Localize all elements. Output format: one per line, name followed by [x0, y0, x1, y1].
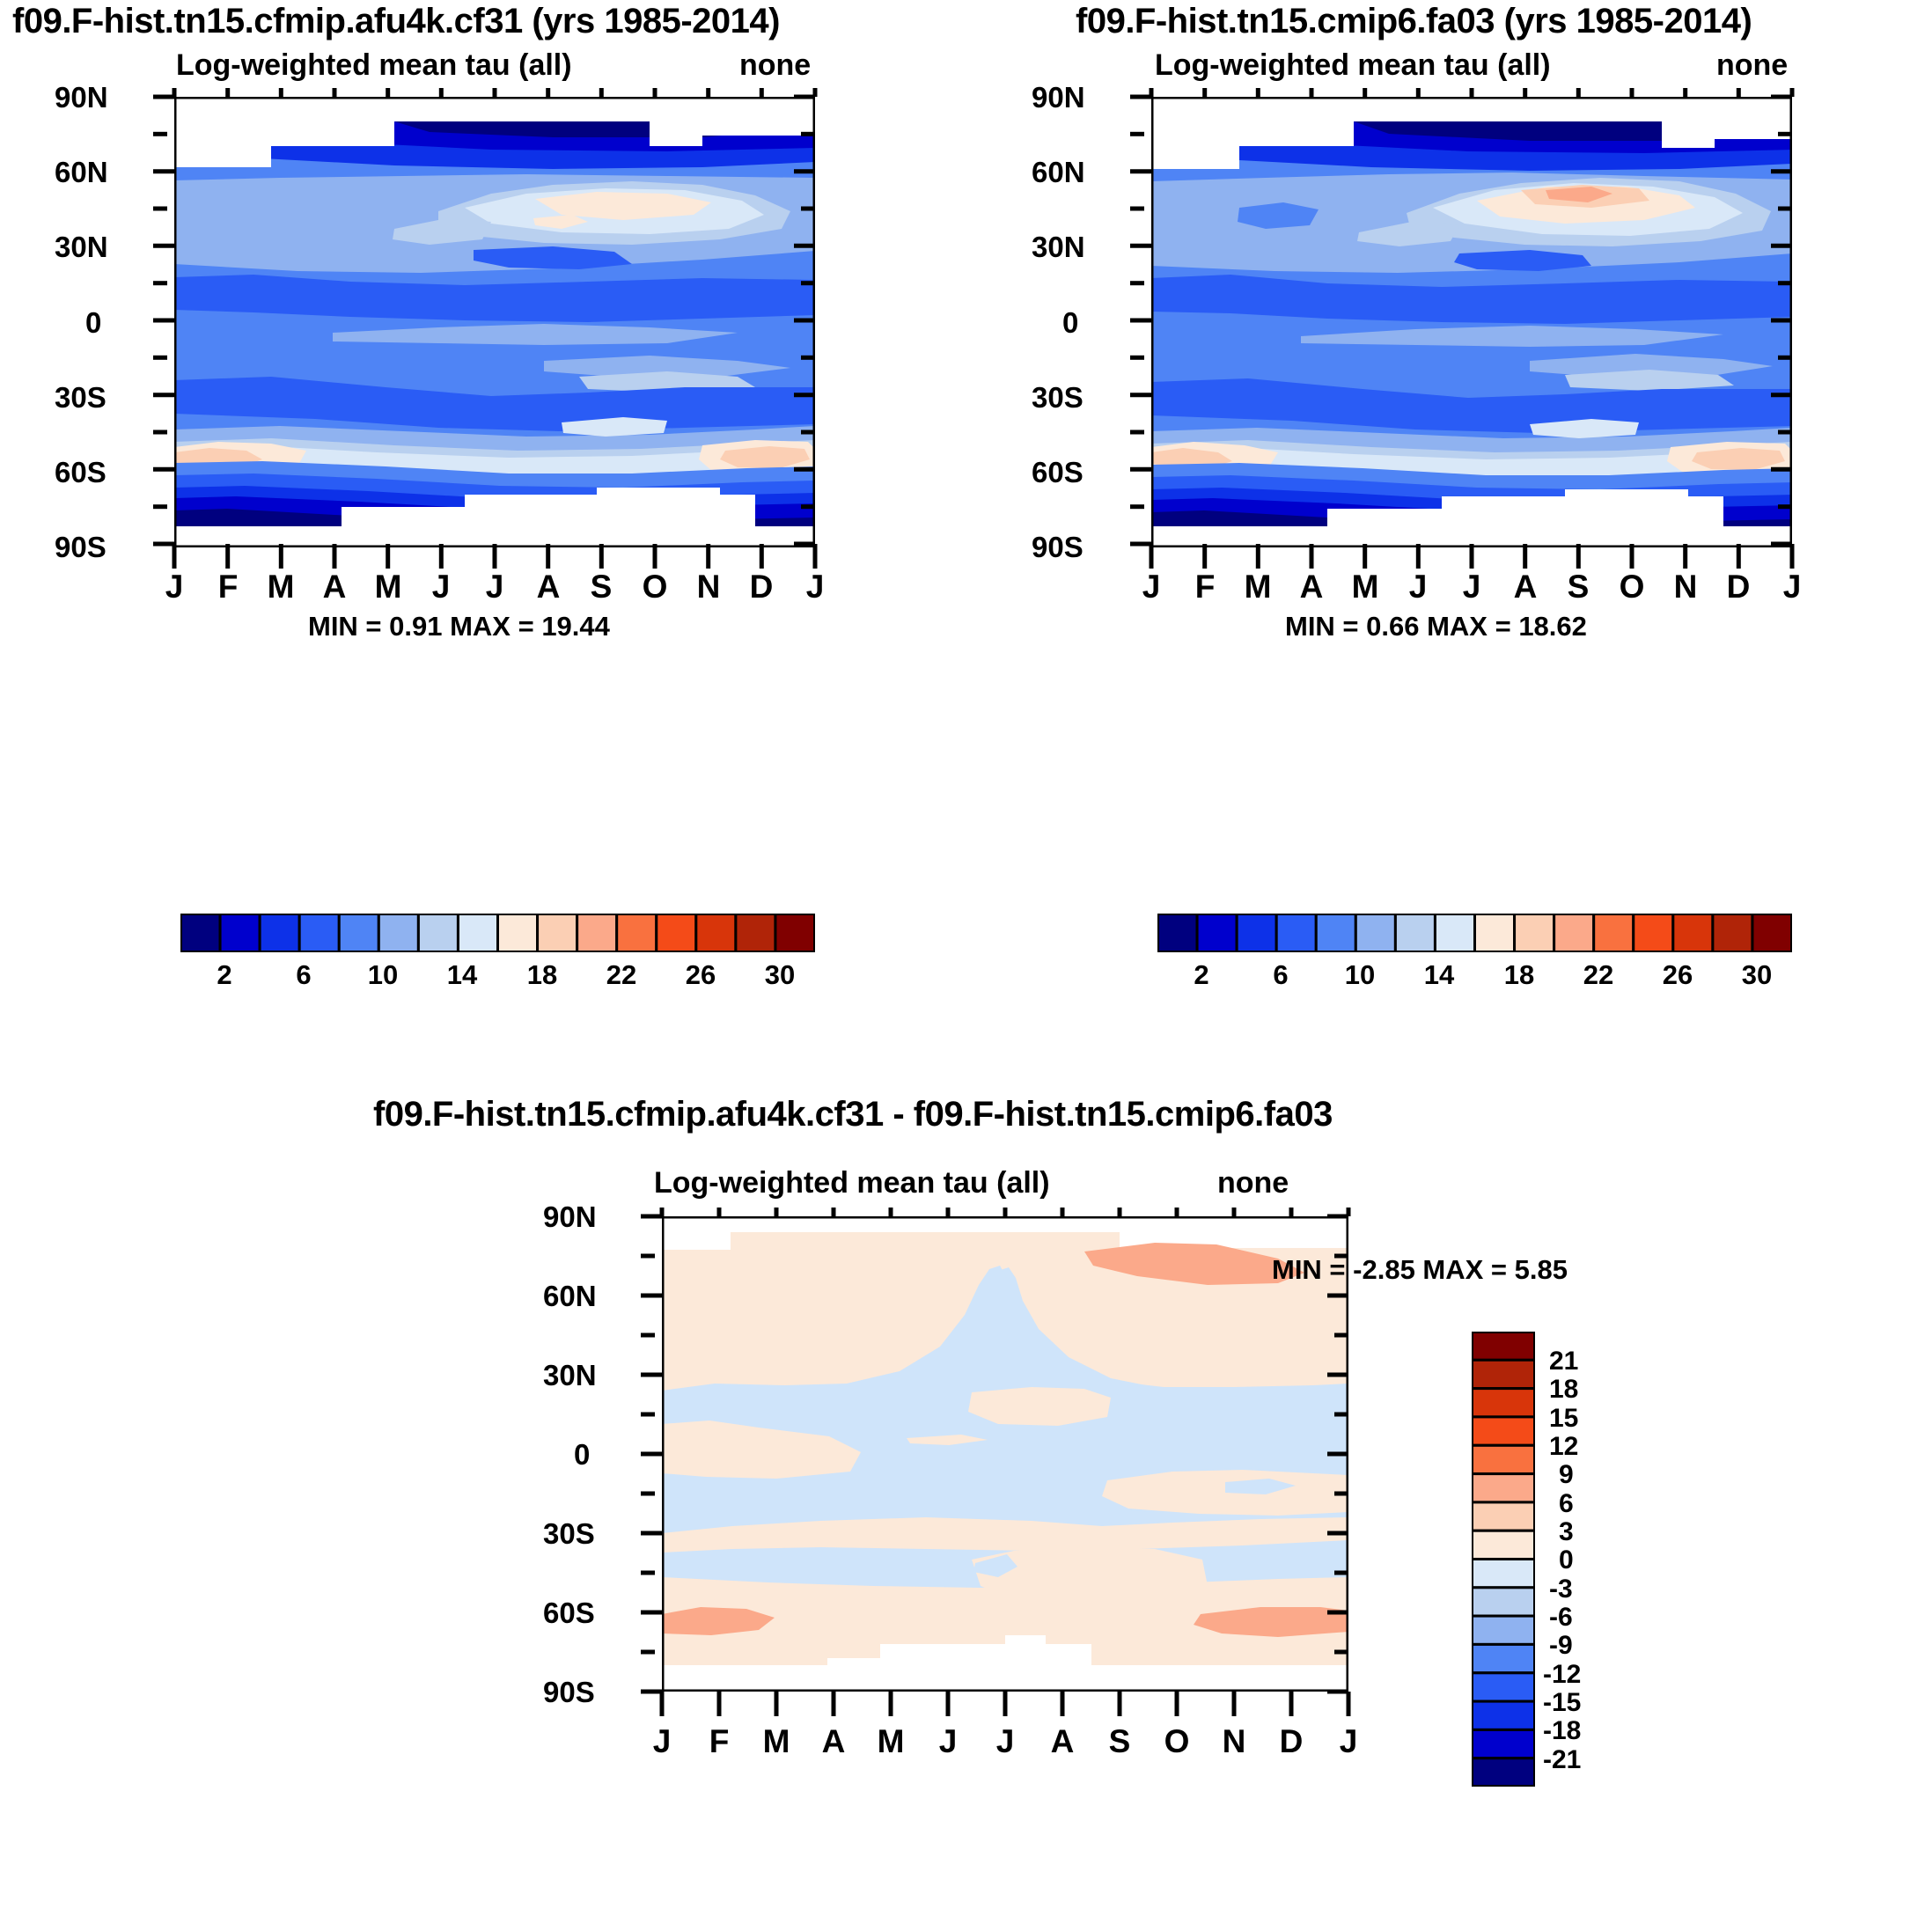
right-ylabel-90N: 90N — [1032, 81, 1085, 114]
diff-panel-title: f09.F-hist.tn15.cfmip.afu4k.cf31 - f09.F… — [373, 1095, 1333, 1134]
left-xlabel-11: D — [744, 569, 779, 606]
right-xlabel-7: A — [1508, 569, 1543, 606]
diff-ylabel-60N: 60N — [543, 1280, 597, 1313]
left-xlabel-2: M — [263, 569, 298, 606]
right-colorbar-tick-1: 6 — [1259, 959, 1303, 991]
diff-ylabel-90N: 90N — [543, 1200, 597, 1234]
diff-ylabel-60S: 60S — [543, 1597, 595, 1630]
left-axis-ticks — [116, 88, 829, 598]
diff-xlabel-8: S — [1102, 1723, 1137, 1760]
right-xlabel-9: O — [1614, 569, 1649, 606]
diff-minmax-label: MIN = -2.85 MAX = 5.85 — [1272, 1254, 1568, 1286]
diff-colorbar-tick-9: -6 — [1549, 1603, 1573, 1633]
diff-colorbar-tick-2: 15 — [1549, 1404, 1578, 1434]
diff-xlabel-10: N — [1216, 1723, 1252, 1760]
left-colorbar-tick-6: 26 — [679, 959, 723, 991]
left-colorbar-tick-0: 2 — [202, 959, 246, 991]
left-colorbar-tick-2: 10 — [361, 959, 405, 991]
left-ylabel-0: 0 — [85, 306, 101, 340]
diff-xlabel-1: F — [702, 1723, 737, 1760]
right-xlabel-12: J — [1774, 569, 1810, 606]
left-ylabel-60N: 60N — [55, 156, 108, 189]
right-colorbar-tick-5: 22 — [1576, 959, 1620, 991]
diff-colorbar-tick-0: 21 — [1549, 1347, 1578, 1376]
left-ylabel-30N: 30N — [55, 231, 108, 264]
left-xlabel-8: S — [584, 569, 619, 606]
left-xlabel-4: M — [371, 569, 406, 606]
right-xlabel-11: D — [1721, 569, 1756, 606]
left-colorbar-tick-1: 6 — [282, 959, 326, 991]
diff-xlabel-11: D — [1274, 1723, 1309, 1760]
diff-colorbar-tick-11: -12 — [1543, 1660, 1581, 1690]
right-xlabel-5: J — [1400, 569, 1436, 606]
diff-colorbar — [1472, 1332, 1535, 1787]
right-colorbar — [1157, 914, 1792, 952]
right-xlabel-2: M — [1240, 569, 1275, 606]
right-colorbar-tick-7: 30 — [1735, 959, 1779, 991]
left-colorbar-tick-4: 18 — [520, 959, 564, 991]
diff-xlabel-3: A — [816, 1723, 851, 1760]
left-colorbar-tick-5: 22 — [599, 959, 643, 991]
diff-ylabel-0: 0 — [574, 1438, 590, 1472]
diff-panel-corner-label: none — [1217, 1166, 1289, 1200]
left-panel-subtitle: Log-weighted mean tau (all) — [176, 48, 572, 83]
diff-colorbar-tick-7: 0 — [1559, 1545, 1574, 1575]
diff-xlabel-5: J — [930, 1723, 966, 1760]
left-xlabel-7: A — [531, 569, 566, 606]
diff-ylabel-90S: 90S — [543, 1676, 595, 1709]
diff-xlabel-9: O — [1159, 1723, 1194, 1760]
right-xlabel-10: N — [1668, 569, 1703, 606]
diff-colorbar-tick-4: 9 — [1559, 1460, 1574, 1490]
right-xlabel-0: J — [1134, 569, 1169, 606]
left-xlabel-5: J — [423, 569, 459, 606]
right-ylabel-60N: 60N — [1032, 156, 1085, 189]
right-colorbar-tick-0: 2 — [1179, 959, 1223, 991]
diff-colorbar-tick-14: -21 — [1543, 1745, 1581, 1775]
left-ylabel-90N: 90N — [55, 81, 108, 114]
left-colorbar-tick-7: 30 — [758, 959, 802, 991]
diff-colorbar-tick-6: 3 — [1559, 1517, 1574, 1547]
right-colorbar-tick-6: 26 — [1656, 959, 1700, 991]
diff-xlabel-0: J — [644, 1723, 680, 1760]
left-colorbar-tick-3: 14 — [440, 959, 484, 991]
left-minmax-label: MIN = 0.91 MAX = 19.44 — [308, 611, 610, 642]
left-xlabel-0: J — [157, 569, 192, 606]
diff-axis-ticks — [604, 1208, 1370, 1744]
diff-colorbar-tick-5: 6 — [1559, 1489, 1574, 1519]
diff-colorbar-tick-8: -3 — [1549, 1575, 1573, 1604]
right-xlabel-1: F — [1187, 569, 1223, 606]
right-colorbar-tick-3: 14 — [1417, 959, 1461, 991]
diff-xlabel-6: J — [988, 1723, 1023, 1760]
diff-colorbar-tick-13: -18 — [1543, 1716, 1581, 1746]
left-panel-corner-label: none — [739, 48, 811, 83]
right-ylabel-30S: 30S — [1032, 381, 1084, 415]
left-ylabel-60S: 60S — [55, 456, 107, 489]
right-ylabel-30N: 30N — [1032, 231, 1085, 264]
diff-ylabel-30N: 30N — [543, 1359, 597, 1392]
right-xlabel-4: M — [1348, 569, 1383, 606]
diff-xlabel-4: M — [873, 1723, 908, 1760]
right-panel-title: f09.F-hist.tn15.cmip6.fa03 (yrs 1985-201… — [1076, 2, 1752, 41]
right-ylabel-60S: 60S — [1032, 456, 1084, 489]
left-xlabel-6: J — [477, 569, 512, 606]
diff-ylabel-30S: 30S — [543, 1517, 595, 1551]
diff-panel-subtitle: Log-weighted mean tau (all) — [654, 1166, 1050, 1200]
left-xlabel-9: O — [637, 569, 672, 606]
right-minmax-label: MIN = 0.66 MAX = 18.62 — [1285, 611, 1587, 642]
right-panel-corner-label: none — [1716, 48, 1788, 83]
left-colorbar — [180, 914, 815, 952]
right-xlabel-6: J — [1454, 569, 1489, 606]
right-xlabel-8: S — [1561, 569, 1596, 606]
right-colorbar-tick-2: 10 — [1338, 959, 1382, 991]
diff-xlabel-12: J — [1331, 1723, 1366, 1760]
right-xlabel-3: A — [1294, 569, 1329, 606]
left-xlabel-1: F — [210, 569, 246, 606]
left-xlabel-3: A — [317, 569, 352, 606]
right-ylabel-90S: 90S — [1032, 531, 1084, 564]
right-colorbar-tick-4: 18 — [1497, 959, 1541, 991]
right-ylabel-0: 0 — [1062, 306, 1078, 340]
left-xlabel-10: N — [691, 569, 726, 606]
right-panel-subtitle: Log-weighted mean tau (all) — [1155, 48, 1551, 83]
left-panel-title: f09.F-hist.tn15.cfmip.afu4k.cf31 (yrs 19… — [12, 2, 780, 41]
diff-colorbar-tick-1: 18 — [1549, 1375, 1578, 1405]
left-ylabel-30S: 30S — [55, 381, 107, 415]
diff-colorbar-tick-10: -9 — [1549, 1631, 1573, 1661]
diff-colorbar-tick-12: -15 — [1543, 1688, 1581, 1718]
right-axis-ticks — [1093, 88, 1806, 598]
diff-xlabel-7: A — [1045, 1723, 1080, 1760]
left-xlabel-12: J — [797, 569, 833, 606]
left-ylabel-90S: 90S — [55, 531, 107, 564]
diff-colorbar-tick-3: 12 — [1549, 1432, 1578, 1462]
diff-xlabel-2: M — [759, 1723, 794, 1760]
